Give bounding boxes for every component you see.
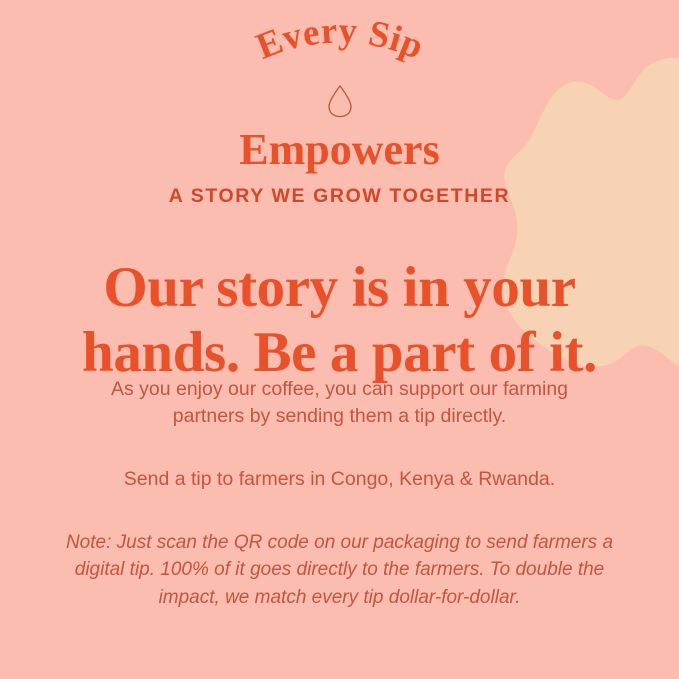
logo-arc-wrap: Every Sip [190, 42, 490, 104]
logo-arc-textpath: Every Sip [250, 10, 429, 67]
note-line-3: impact, we match every tip dollar-for-do… [0, 584, 679, 611]
body-paragraph-1: As you enjoy our coffee, you can support… [90, 376, 590, 430]
body-p1-line-1: As you enjoy our coffee, you can support… [90, 376, 590, 403]
note-line-1: Note: Just scan the QR code on our packa… [0, 529, 679, 556]
eyebrow-text: A STORY WE GROW TOGETHER [0, 185, 679, 208]
droplet-path [329, 86, 351, 117]
body-copy: As you enjoy our coffee, you can support… [0, 376, 679, 493]
note-line-2: digital tip. 100% of it goes directly to… [0, 556, 679, 583]
page-title: Our story is in your hands. Be a part of… [0, 256, 679, 386]
logo-wordmark: Empowers [0, 128, 679, 172]
body-p1-line-2: partners by sending them a tip directly. [90, 403, 590, 430]
note-text: Note: Just scan the QR code on our packa… [0, 529, 679, 611]
logo-arc-text-svg: Every Sip [250, 10, 429, 67]
droplet-icon [327, 84, 353, 118]
headline-line-1: Our story is in your [0, 256, 679, 321]
body-paragraph-2: Send a tip to farmers in Congo, Kenya & … [90, 466, 590, 493]
body-p2-line-1: Send a tip to farmers in Congo, Kenya & … [90, 466, 590, 493]
brand-logo: Every Sip Empowers [0, 42, 679, 172]
poster-canvas: Every Sip Empowers A STORY WE GROW TOGET… [0, 0, 679, 679]
